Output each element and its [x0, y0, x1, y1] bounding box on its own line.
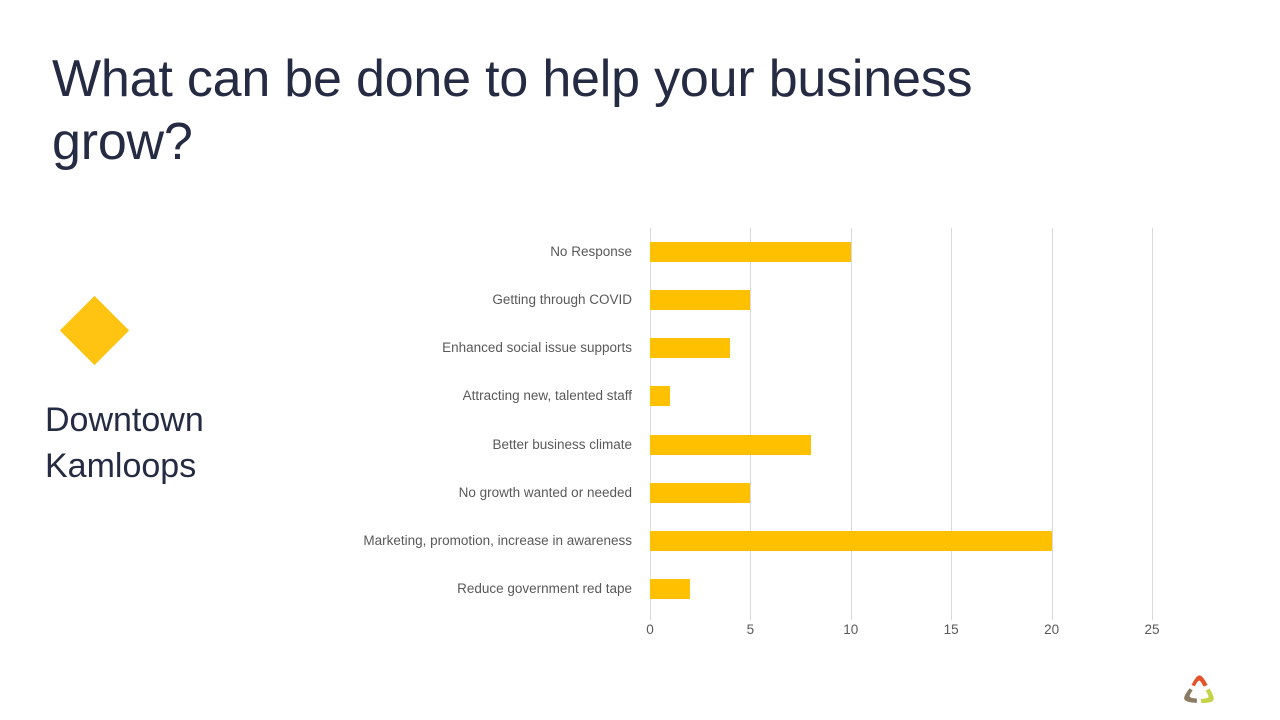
category-label: Marketing, promotion, increase in awaren… — [332, 534, 632, 548]
axis-tick — [951, 613, 952, 620]
category-label: No growth wanted or needed — [332, 486, 632, 500]
category-label: Attracting new, talented staff — [332, 389, 632, 403]
value-axis-labels: 0510152025 — [650, 622, 1152, 642]
gridline — [1152, 228, 1153, 613]
x-tick-label: 10 — [843, 622, 858, 638]
gridline — [951, 228, 952, 613]
gridline — [851, 228, 852, 613]
bar — [650, 435, 811, 455]
axis-tick — [650, 613, 651, 620]
x-tick-label: 0 — [646, 622, 654, 638]
plot-area — [650, 228, 1152, 613]
tri-arc-triangle-logo-icon — [1180, 672, 1218, 708]
page-title: What can be done to help your business g… — [52, 48, 1032, 174]
category-label: Better business climate — [332, 438, 632, 452]
category-label: No Response — [332, 245, 632, 259]
brand-name: Downtown Kamloops — [45, 397, 295, 489]
gridline — [1052, 228, 1053, 613]
x-tick-label: 15 — [944, 622, 959, 638]
slide-canvas: What can be done to help your business g… — [0, 0, 1280, 720]
bar — [650, 338, 730, 358]
brand-block: Downtown Kamloops — [45, 300, 295, 489]
gridline — [650, 228, 651, 613]
category-label: Enhanced social issue supports — [332, 341, 632, 355]
x-tick-label: 20 — [1044, 622, 1059, 638]
category-label: Reduce government red tape — [332, 582, 632, 596]
x-tick-label: 5 — [747, 622, 755, 638]
diamond-logo-icon — [60, 296, 129, 365]
bar — [650, 579, 690, 599]
axis-tick — [1052, 613, 1053, 620]
bar — [650, 483, 750, 503]
bar — [650, 386, 670, 406]
bar — [650, 290, 750, 310]
axis-tick — [1152, 613, 1153, 620]
gridline — [750, 228, 751, 613]
category-label: Getting through COVID — [332, 293, 632, 307]
axis-tick — [851, 613, 852, 620]
bar — [650, 531, 1052, 551]
bar — [650, 242, 851, 262]
bar-chart: No ResponseGetting through COVIDEnhanced… — [330, 228, 1160, 640]
category-axis-labels: No ResponseGetting through COVIDEnhanced… — [330, 228, 637, 613]
axis-tick — [750, 613, 751, 620]
x-tick-label: 25 — [1144, 622, 1159, 638]
